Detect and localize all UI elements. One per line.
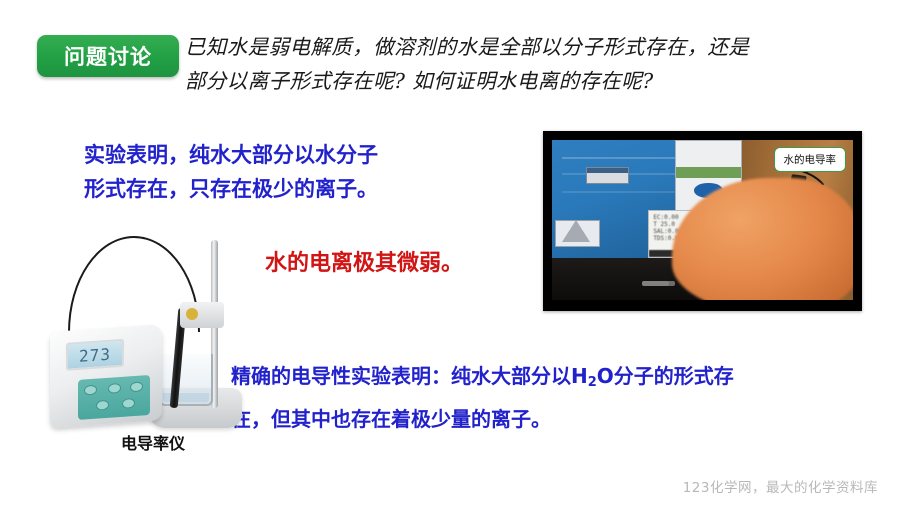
statement-blue-bottom-line1: 精确的电导性实验表明：纯水大部分以H2O分子的形式存	[231, 358, 891, 401]
watermark: 123化学网，最大的化学资料库	[683, 476, 878, 496]
video-caption-tag: 水的电导率	[774, 147, 847, 172]
meter-key-3	[130, 381, 143, 392]
meter-lcd-value: 273	[79, 344, 111, 365]
statement-blue-top-line1: 实验表明，纯水大部分以水分子	[84, 138, 484, 172]
meter-lcd-display: 273	[66, 339, 124, 371]
video-window-small	[586, 167, 629, 184]
meter-beaker	[159, 354, 213, 406]
meter-body: 273	[50, 324, 162, 428]
statement-blue-bottom-line1-b: O分子的形式存	[597, 364, 734, 388]
header-question-line1: 已知水是弱电解质，做溶剂的水是全部以分子形式存在，还是	[185, 35, 749, 59]
topic-badge: 问题讨论	[37, 35, 179, 77]
statement-blue-top: 实验表明，纯水大部分以水分子 形式存在，只存在极少的离子。	[84, 138, 484, 206]
topic-badge-label: 问题讨论	[64, 41, 152, 71]
video-keyboard-keys	[642, 281, 669, 286]
video-frame: EC:0.00 T 25.0 SAL:0.00 TDS:0.000 水的电导率	[552, 140, 853, 300]
video-window-band	[676, 167, 740, 178]
video-graph-window	[555, 220, 600, 247]
header-question-line2: 部分以离子形式存在呢? 如何证明水电离的存在呢?	[185, 64, 865, 98]
statement-red-note: 水的电离极其微弱。	[265, 245, 463, 277]
meter-key-4	[96, 400, 109, 411]
meter-clamp-knob	[186, 308, 198, 320]
meter-keypad	[78, 375, 150, 420]
statement-blue-bottom-line1-a: 精确的电导性实验表明：纯水大部分以H	[231, 364, 588, 388]
statement-blue-top-line2: 形式存在，只存在极少的离子。	[84, 172, 484, 206]
meter-clamp	[180, 302, 224, 328]
meter-key-2	[108, 383, 121, 394]
conductivity-meter-figure: 273 电导率仪	[46, 236, 256, 456]
meter-caption: 电导率仪	[88, 430, 218, 454]
meter-key-5	[122, 398, 135, 409]
meter-key-1	[84, 385, 97, 396]
statement-blue-bottom: 精确的电导性实验表明：纯水大部分以H2O分子的形式存 在，但其中也存在着极少量的…	[231, 358, 891, 438]
formula-subscript: 2	[588, 375, 597, 390]
header-question: 已知水是弱电解质，做溶剂的水是全部以分子形式存在，还是 部分以离子形式存在呢? …	[185, 30, 865, 98]
slide-canvas: 问题讨论 已知水是弱电解质，做溶剂的水是全部以分子形式存在，还是 部分以离子形式…	[0, 0, 900, 506]
video-thumbnail[interactable]: EC:0.00 T 25.0 SAL:0.00 TDS:0.000 水的电导率	[543, 131, 862, 311]
statement-blue-bottom-line2: 在，但其中也存在着极少量的离子。	[231, 401, 891, 438]
